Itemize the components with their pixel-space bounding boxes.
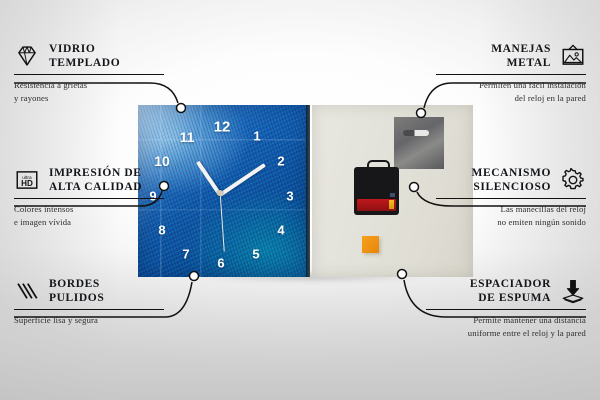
clock-numeral: 5 bbox=[252, 248, 259, 261]
callout-description: Permiten una fácil instalación del reloj… bbox=[436, 79, 586, 104]
arrow-down-pad-icon bbox=[560, 278, 586, 304]
callout-title: IMPRESIÓN DE ALTA CALIDAD bbox=[49, 166, 142, 195]
clock-numeral: 7 bbox=[182, 248, 189, 261]
callout-description: Colores intensos e imagen vívida bbox=[14, 203, 164, 228]
callout-description: Permite mantener una distancia uniforme … bbox=[426, 314, 586, 339]
clock-numeral: 11 bbox=[180, 130, 195, 144]
clock-polished-edge bbox=[306, 105, 310, 277]
clock-hand-cap bbox=[217, 190, 223, 196]
movement-hook-tab bbox=[367, 160, 390, 171]
callout-rule bbox=[426, 309, 586, 311]
callout-title: ESPACIADOR DE ESPUMA bbox=[470, 277, 551, 306]
callout-rule bbox=[436, 198, 586, 200]
callout-title: MECANISMO SILENCIOSO bbox=[471, 166, 551, 195]
callout-espaciador-de-espuma: ESPACIADOR DE ESPUMA Permite mantener un… bbox=[426, 277, 586, 339]
callout-rule bbox=[14, 74, 164, 76]
clock-numeral: 4 bbox=[277, 224, 284, 237]
gear-icon bbox=[560, 167, 586, 193]
metal-hanger-plate bbox=[394, 117, 444, 169]
callout-impresion-alta-calidad: ultra HD IMPRESIÓN DE ALTA CALIDAD Color… bbox=[14, 166, 164, 228]
callout-description: Resistencia a grietas y rayones bbox=[14, 79, 164, 104]
callout-description: Superficie lisa y segura bbox=[14, 314, 164, 326]
callout-title: MANEJAS METAL bbox=[491, 42, 551, 71]
diagonal-lines-icon bbox=[14, 278, 40, 304]
battery bbox=[357, 199, 396, 211]
hanger-slot bbox=[403, 130, 429, 136]
callout-vidrio-templado: VIDRIO TEMPLADO Resistencia a grietas y … bbox=[14, 42, 164, 104]
clock-numeral: 1 bbox=[253, 130, 260, 143]
callout-bordes-pulidos: BORDES PULIDOS Superficie lisa y segura bbox=[14, 277, 164, 327]
callout-rule bbox=[14, 309, 164, 311]
movement-detail bbox=[390, 193, 395, 197]
callout-rule bbox=[14, 198, 164, 200]
callout-description: Las manecillas del reloj no emiten ningú… bbox=[436, 203, 586, 228]
diamond-icon bbox=[14, 43, 40, 69]
clock-numeral: 2 bbox=[277, 155, 284, 168]
callout-mecanismo-silencioso: MECANISMO SILENCIOSO Las manecillas del … bbox=[436, 166, 586, 228]
clock-numeral: 3 bbox=[286, 190, 293, 203]
callout-title: BORDES PULIDOS bbox=[49, 277, 104, 306]
foam-spacer bbox=[362, 236, 379, 253]
clock-numeral: 12 bbox=[214, 120, 231, 135]
callout-rule bbox=[436, 74, 586, 76]
svg-text:HD: HD bbox=[21, 179, 33, 188]
callout-title: VIDRIO TEMPLADO bbox=[49, 42, 120, 71]
clock-movement bbox=[354, 167, 399, 215]
clock-numeral: 6 bbox=[217, 257, 224, 270]
callout-manejas-metal: MANEJAS METAL Permiten una fácil instala… bbox=[436, 42, 586, 104]
ultra-hd-icon: ultra HD bbox=[14, 167, 40, 193]
product-image: 12 1 2 3 4 5 6 7 8 9 10 11 bbox=[138, 105, 473, 277]
picture-frame-hook-icon bbox=[560, 43, 586, 69]
